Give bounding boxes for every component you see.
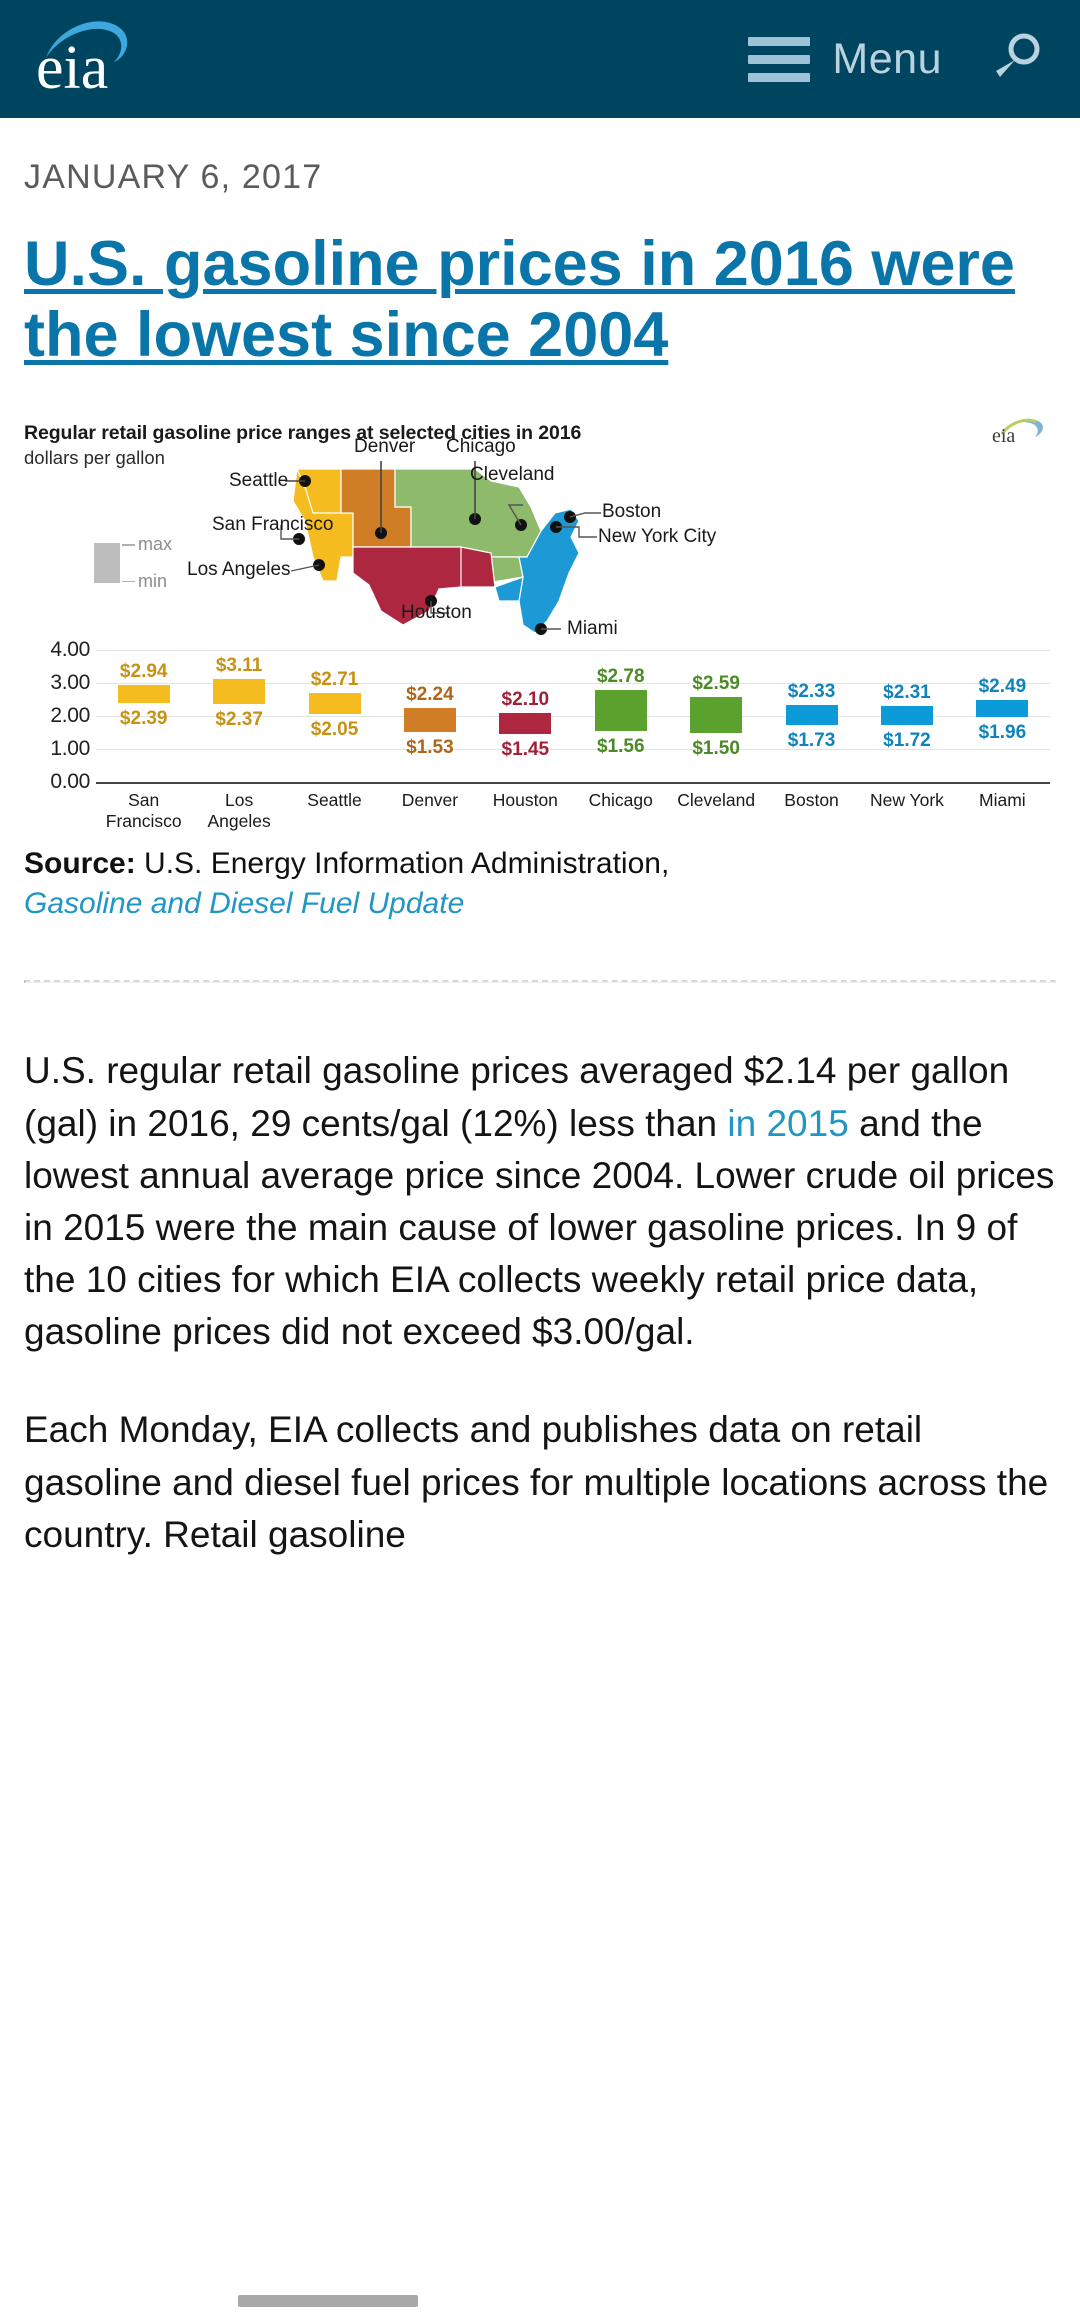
y-tick-2: 2.00 (50, 704, 90, 728)
bar-group: $2.71$2.05 (287, 650, 382, 784)
bar-max-label: $2.49 (979, 676, 1027, 698)
bar-range (499, 713, 551, 734)
paragraph-2: Each Monday, EIA collects and publishes … (24, 1404, 1056, 1560)
legend-max-label: max (138, 534, 172, 555)
bar-group: $2.24$1.53 (382, 650, 477, 784)
bar-min-label: $1.56 (597, 736, 645, 758)
bar-range (690, 697, 742, 733)
map-block: max min (24, 443, 1056, 648)
y-tick-3: 3.00 (50, 671, 90, 695)
bar-group: $2.33$1.73 (764, 650, 859, 784)
x-axis-tick-label: Boston (764, 790, 859, 831)
source-prefix: Source: (24, 847, 136, 880)
bar-min-label: $1.53 (406, 737, 454, 759)
bar-group: $2.59$1.50 (668, 650, 763, 784)
x-axis-tick-label: Chicago (573, 790, 668, 831)
bar-max-label: $3.11 (216, 655, 263, 677)
bar-range (595, 690, 647, 730)
eia-logo[interactable]: eia (28, 14, 178, 104)
map-label-cleveland: Cleveland (470, 465, 555, 486)
paragraph-1: U.S. regular retail gasoline prices aver… (24, 1045, 1056, 1358)
legend-swatch (94, 543, 120, 583)
bar-range (213, 679, 265, 703)
bar-group: $2.31$1.72 (859, 650, 954, 784)
site-header: eia Menu (0, 0, 1080, 118)
source-text: U.S. Energy Information Administration, (144, 847, 669, 880)
plot-area: $2.94$2.39$3.11$2.37$2.71$2.05$2.24$1.53… (96, 650, 1050, 784)
figure-gasoline-price-ranges: eia Regular retail gasoline price ranges… (24, 422, 1056, 924)
map-label-seattle: Seattle (229, 471, 288, 492)
link-in-2015[interactable]: in 2015 (727, 1103, 848, 1144)
map-label-chicago: Chicago (446, 437, 516, 458)
figure-source: Source: U.S. Energy Information Administ… (24, 844, 1056, 924)
x-axis-tick-label: New York (859, 790, 954, 831)
map-label-los-angeles: Los Angeles (187, 560, 291, 581)
bar-max-label: $2.10 (502, 689, 550, 711)
bar-group: $2.78$1.56 (573, 650, 668, 784)
map-label-san-francisco: San Francisco (212, 515, 280, 536)
x-axis-labels: SanFranciscoLosAngelesSeattleDenverHoust… (96, 790, 1050, 831)
map-label-boston: Boston (602, 502, 661, 523)
search-button[interactable] (986, 29, 1046, 89)
map-label-new-york-city: New York City (598, 527, 668, 548)
bar-chart: 4.00 3.00 2.00 1.00 0.00 $2.94$2.39$3.11… (24, 650, 1056, 810)
bar-max-label: $2.33 (788, 681, 836, 703)
bar-max-label: $2.31 (883, 682, 931, 704)
x-axis-tick-label: Seattle (287, 790, 382, 831)
bar-group: $2.94$2.39 (96, 650, 191, 784)
legend-min-label: min (138, 571, 167, 592)
menu-label: Menu (832, 35, 942, 84)
map-label-miami: Miami (567, 619, 618, 640)
bar-range (404, 708, 456, 731)
x-axis-tick-label: Denver (382, 790, 477, 831)
article-body: U.S. regular retail gasoline prices aver… (24, 1045, 1056, 1560)
us-padd-map (279, 461, 699, 643)
x-axis-tick-label: Houston (478, 790, 573, 831)
article-headline[interactable]: U.S. gasoline prices in 2016 were the lo… (24, 229, 1056, 370)
map-label-houston: Houston (401, 603, 472, 624)
section-divider (24, 980, 1056, 983)
x-axis-tick-label: LosAngeles (191, 790, 286, 831)
search-icon (986, 29, 1046, 89)
menu-button[interactable]: Menu (748, 35, 942, 84)
svg-text:eia: eia (36, 34, 108, 102)
hamburger-icon (748, 37, 810, 82)
bar-min-label: $1.73 (788, 730, 836, 752)
bar-min-label: $1.45 (502, 739, 550, 761)
bar-max-label: $2.71 (311, 669, 359, 691)
map-label-denver: Denver (354, 437, 415, 458)
bar-group: $2.49$1.96 (955, 650, 1050, 784)
source-link[interactable]: Gasoline and Diesel Fuel Update (24, 884, 1056, 924)
x-axis-tick-label: SanFrancisco (96, 790, 191, 831)
bar-max-label: $2.24 (406, 684, 454, 706)
bar-range (118, 685, 170, 703)
bar-min-label: $1.72 (883, 730, 931, 752)
bar-min-label: $1.50 (692, 738, 740, 760)
y-tick-1: 1.00 (50, 737, 90, 761)
y-tick-4: 4.00 (50, 638, 90, 662)
publish-date: JANUARY 6, 2017 (24, 158, 1056, 197)
horizontal-scrollbar[interactable] (238, 2295, 418, 2307)
bar-range (786, 705, 838, 725)
bar-group: $2.10$1.45 (478, 650, 573, 784)
bar-range (881, 706, 933, 725)
y-tick-0: 0.00 (50, 770, 90, 794)
bar-max-label: $2.78 (597, 666, 645, 688)
bar-max-label: $2.59 (692, 673, 740, 695)
bar-min-label: $2.39 (120, 708, 168, 730)
bar-range (976, 700, 1028, 717)
bar-group: $3.11$2.37 (191, 650, 286, 784)
y-axis: 4.00 3.00 2.00 1.00 0.00 (24, 650, 90, 784)
bar-min-label: $2.37 (215, 709, 263, 731)
eia-logo-icon: eia (28, 14, 178, 104)
x-axis-tick-label: Cleveland (668, 790, 763, 831)
x-axis-tick-label: Miami (955, 790, 1050, 831)
bar-min-label: $2.05 (311, 719, 359, 741)
figure-title: Regular retail gasoline price ranges at … (24, 422, 1056, 445)
map-legend: max min (94, 543, 196, 583)
article: JANUARY 6, 2017 U.S. gasoline prices in … (0, 158, 1080, 1561)
bar-max-label: $2.94 (120, 661, 168, 683)
bar-min-label: $1.96 (979, 722, 1027, 744)
bar-range (309, 693, 361, 715)
